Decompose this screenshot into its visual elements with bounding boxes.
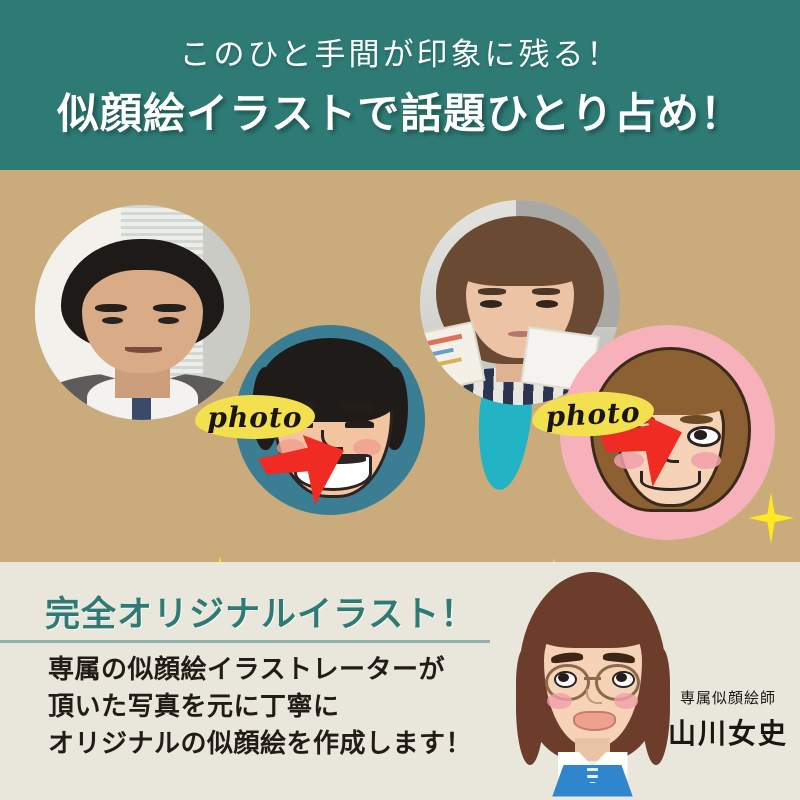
illustrator-role: 専属似顔絵師 [660, 687, 796, 708]
eyebrow-left [478, 288, 506, 295]
header-title: 似顔絵イラストで話題ひとり占め！ [57, 80, 743, 141]
pupil-right [694, 430, 707, 439]
glasses-bridge [584, 677, 602, 680]
cheek-right [691, 452, 721, 469]
label-photo-text: photo [531, 389, 655, 439]
eyebrow-right [153, 304, 185, 313]
body-line: 専属の似顔絵イラストレーターが [48, 652, 498, 689]
eye-right [536, 300, 558, 307]
eyebrow-right [532, 288, 560, 295]
face-shape [82, 270, 202, 373]
label-photo-right: photo [531, 389, 655, 439]
sparkle-icon [748, 492, 794, 544]
cheek-left [614, 452, 644, 469]
promo-banner: このひと手間が印象に残る！ 似顔絵イラストで話題ひとり占め！ [0, 0, 800, 800]
label-photo-left: photo [195, 395, 315, 439]
illustrator-avatar [505, 567, 680, 792]
bottom-section: 完全オリジナルイラスト！ 専属の似顔絵イラストレーターが 頂いた写真を元に丁寧に… [0, 562, 800, 800]
cheek-left [547, 693, 572, 709]
heading-divider [0, 640, 490, 643]
eye-right [158, 317, 180, 324]
body-line: 頂いた写真を元に丁寧に [48, 689, 498, 726]
header-subtitle: このひと手間が印象に残る！ [179, 29, 620, 74]
photo-left-male [35, 205, 250, 420]
label-photo-text: photo [195, 395, 315, 439]
eyebrow-right [680, 415, 712, 424]
bottom-body-text: 専属の似顔絵イラストレーターが 頂いた写真を元に丁寧に オリジナルの似顔絵を作成… [48, 652, 498, 763]
header-band: このひと手間が印象に残る！ 似顔絵イラストで話題ひとり占め！ [0, 0, 800, 170]
illustrator-credit: 専属似顔絵師 山川女史 [660, 687, 796, 752]
body-line: オリジナルの似顔絵を作成します！ [48, 726, 498, 763]
illustrator-name: 山川女史 [660, 712, 796, 752]
lips-shape [573, 711, 616, 731]
bottom-heading: 完全オリジナルイラスト！ [45, 586, 476, 637]
eye-right [345, 420, 374, 428]
buttons-shape [587, 761, 598, 784]
cheek-right [614, 693, 639, 709]
showcase-section: photo photo illust illust [0, 170, 800, 562]
eye-left [102, 317, 124, 324]
eye-left [480, 300, 502, 307]
